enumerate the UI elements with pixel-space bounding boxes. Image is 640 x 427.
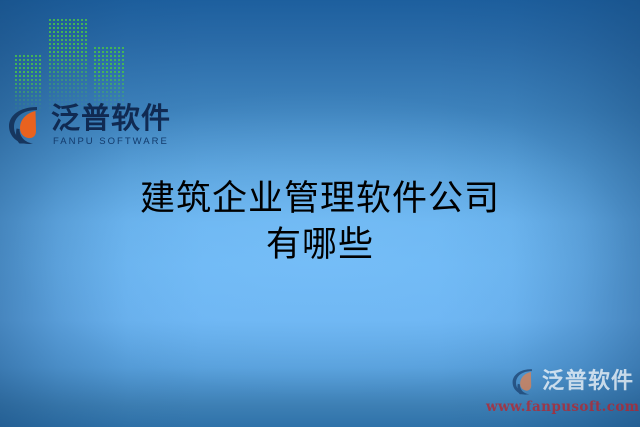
- brand-name-cn: 泛普软件: [51, 104, 171, 133]
- fanpu-watermark-mark-icon: [511, 367, 539, 396]
- brand-logo-wordmark: 泛普软件 FANPU SOFTWARE: [51, 104, 171, 147]
- headline-line-2: 有哪些: [20, 222, 620, 268]
- watermark-logo-row: 泛普软件: [486, 367, 634, 396]
- promo-poster: 泛普软件 FANPU SOFTWARE 建筑企业管理软件公司 有哪些 泛普软件 …: [0, 0, 640, 427]
- watermark-url: www.fanpusoft.com: [486, 399, 634, 415]
- brand-name-en: FANPU SOFTWARE: [53, 137, 171, 147]
- headline-line-1: 建筑企业管理软件公司: [20, 176, 620, 222]
- watermark-brand-name: 泛普软件: [542, 371, 634, 393]
- brand-logo: 泛普软件 FANPU SOFTWARE: [7, 104, 171, 147]
- brand-watermark: 泛普软件 www.fanpusoft.com: [486, 367, 634, 415]
- fanpu-logo-mark-icon: [7, 104, 47, 146]
- poster-headline: 建筑企业管理软件公司 有哪些: [0, 176, 640, 268]
